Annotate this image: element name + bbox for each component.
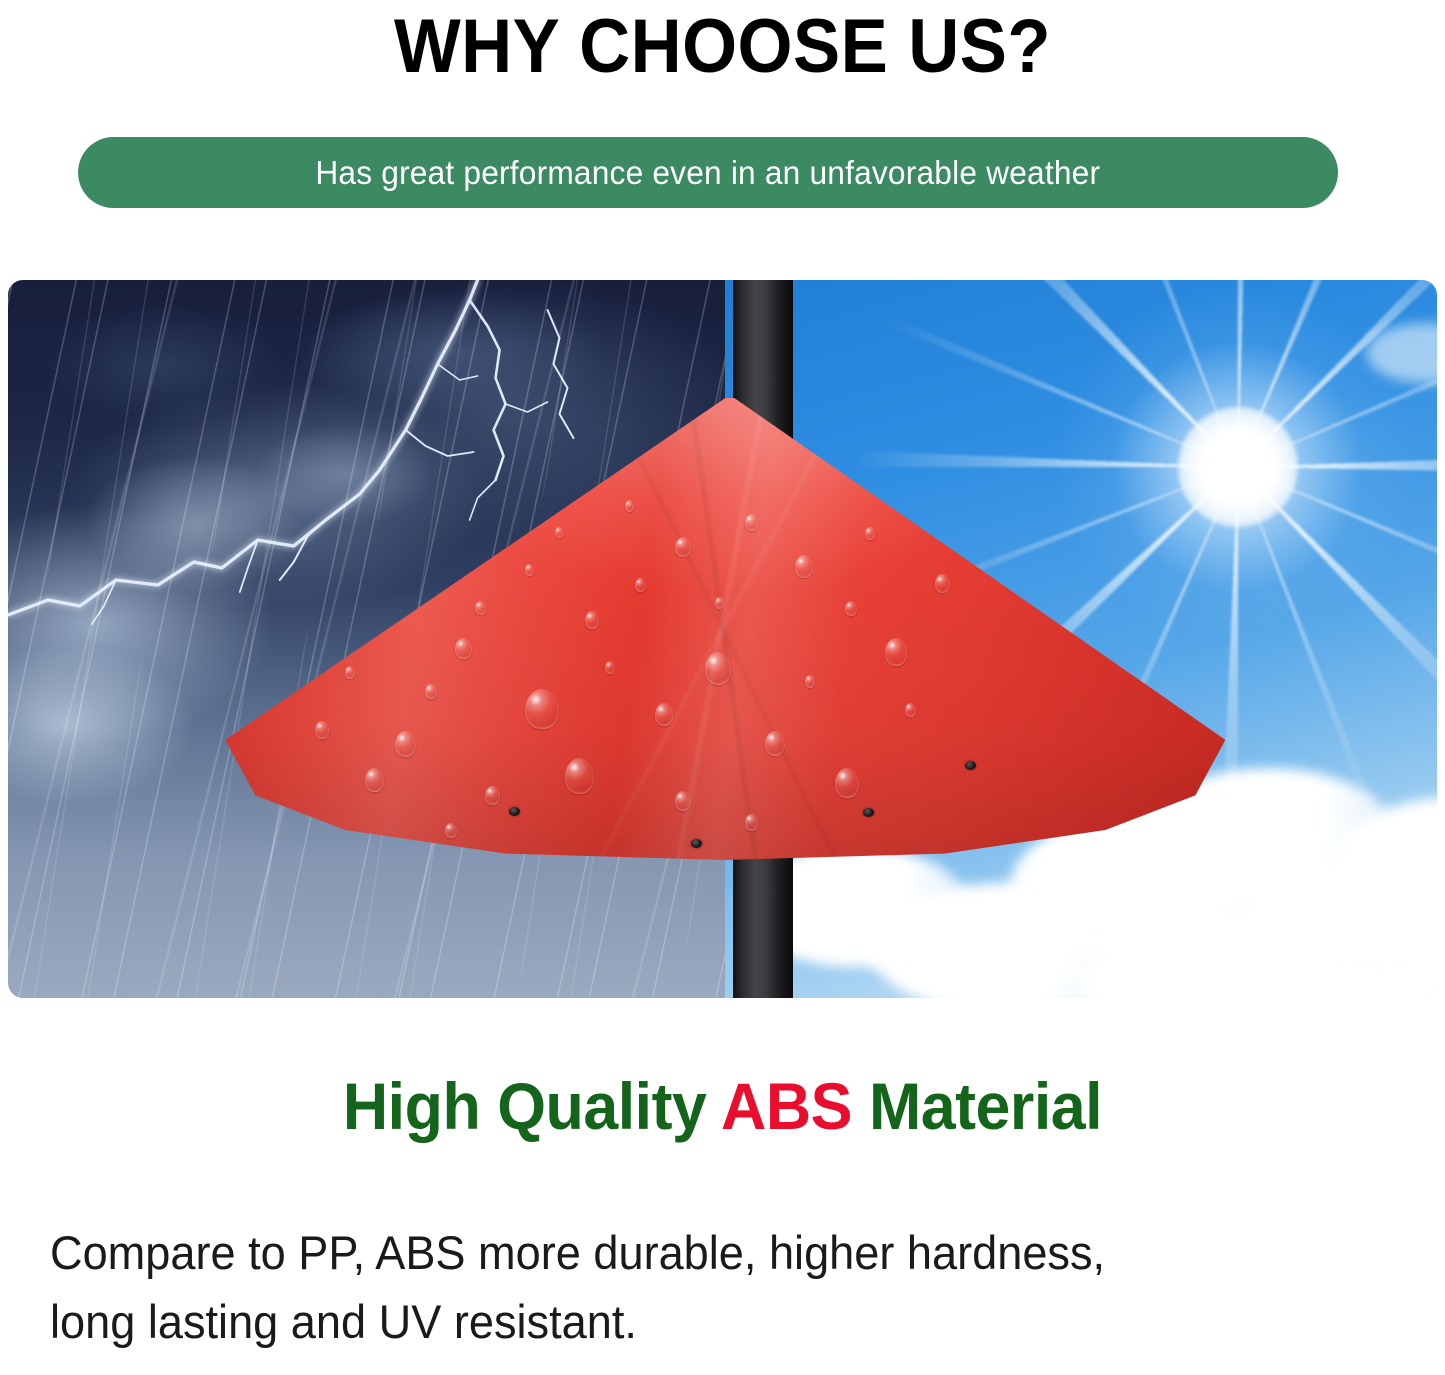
sun-icon <box>1178 407 1298 527</box>
mounting-pole <box>733 280 793 998</box>
material-headline-highlight: ABS <box>721 1069 852 1143</box>
sun-rays-icon <box>858 280 1437 847</box>
storm-scene <box>8 280 725 998</box>
product-comparison-photo <box>8 280 1437 998</box>
material-description-line1: Compare to PP, ABS more durable, higher … <box>50 1218 1346 1287</box>
material-headline-part2: Material <box>852 1069 1102 1143</box>
material-headline: High Quality ABS Material <box>36 1068 1409 1144</box>
rain-streaks-secondary <box>8 280 811 998</box>
tagline-text: Has great performance even in an unfavor… <box>316 154 1101 192</box>
page-title: WHY CHOOSE US? <box>51 0 1395 92</box>
material-headline-part1: High Quality <box>343 1069 721 1143</box>
sunny-scene <box>725 280 1437 998</box>
tagline-banner: Has great performance even in an unfavor… <box>78 137 1338 208</box>
material-description: Compare to PP, ABS more durable, higher … <box>50 1218 1346 1356</box>
material-description-line2: long lasting and UV resistant. <box>50 1287 1346 1356</box>
